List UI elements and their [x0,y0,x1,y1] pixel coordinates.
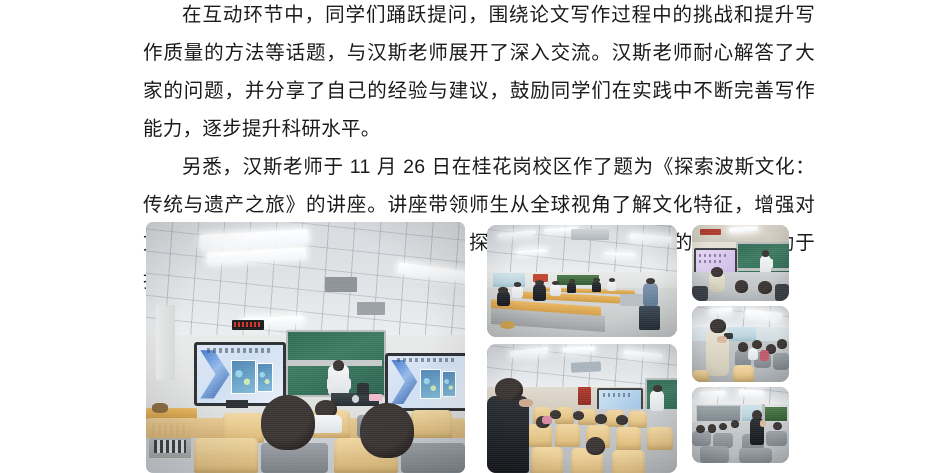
photo-speaker-board[interactable] [692,225,789,301]
photo-classroom-discussion[interactable] [692,387,789,463]
photo-student-question[interactable] [692,306,789,382]
photo-lecture-hall-main[interactable] [146,222,465,473]
photo-audience-back[interactable] [487,344,677,473]
photo-gallery [146,222,812,473]
photo-classroom-wide[interactable] [487,225,677,337]
paragraph-1: 在互动环节中，同学们踊跃提问，围绕论文写作过程中的挑战和提升写作质量的方法等话题… [143,0,815,148]
document-page: 在互动环节中，同学们踊跃提问，围绕论文写作过程中的挑战和提升写作质量的方法等话题… [0,0,944,473]
